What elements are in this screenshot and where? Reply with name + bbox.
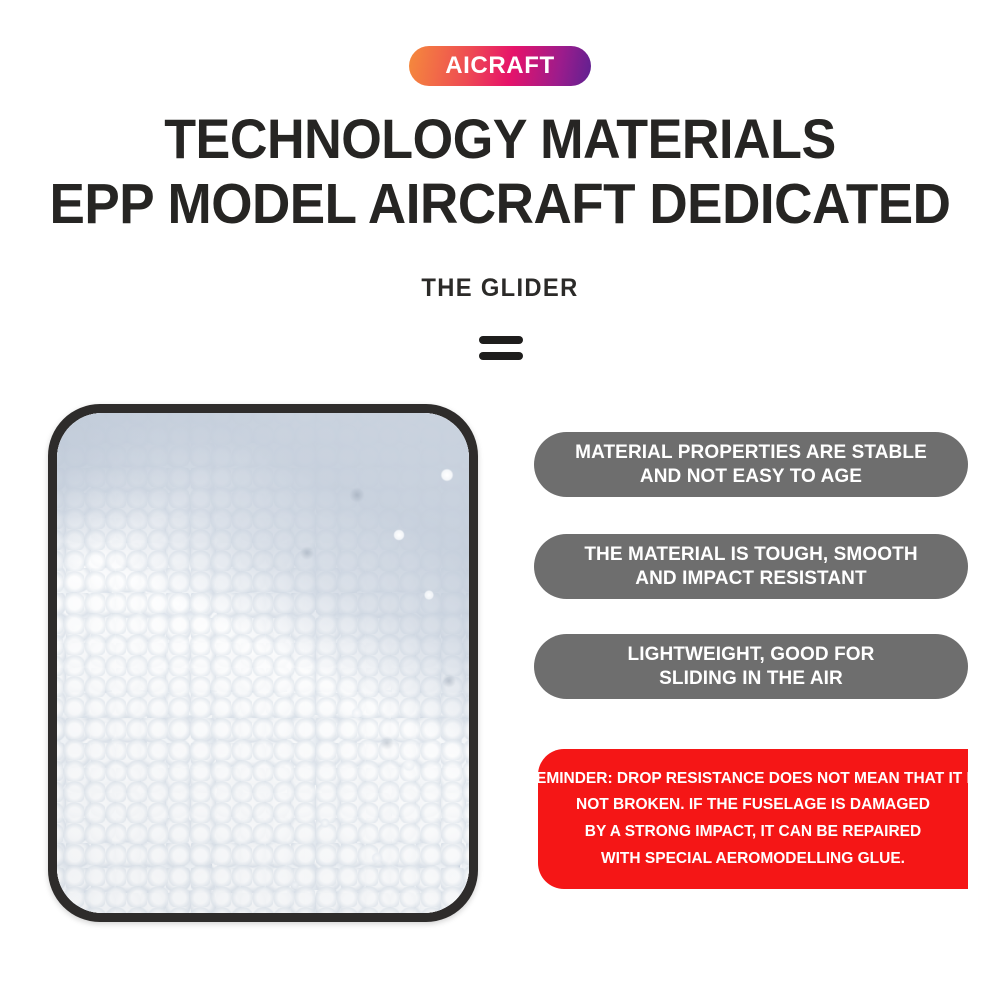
photo-sheen-overlay (57, 413, 469, 913)
feature-pill-1-line-1: MATERIAL PROPERTIES ARE STABLE (575, 441, 927, 464)
feature-pill-3: LIGHTWEIGHT, GOOD FOR SLIDING IN THE AIR (534, 634, 968, 699)
page-title-line-1: TECHNOLOGY MATERIALS (35, 110, 965, 167)
reminder-callout: REMINDER: DROP RESISTANCE DOES NOT MEAN … (538, 749, 968, 889)
reminder-line-4: WITH SPECIAL AEROMODELLING GLUE. (601, 846, 905, 873)
reminder-line-3: BY A STRONG IMPACT, IT CAN BE REPAIRED (585, 819, 921, 846)
feature-pill-1: MATERIAL PROPERTIES ARE STABLE AND NOT E… (534, 432, 968, 497)
brand-badge: AICRAFT (409, 46, 591, 86)
equals-icon-bar-bottom (479, 352, 523, 360)
equals-icon (479, 336, 523, 360)
feature-pill-1-line-2: AND NOT EASY TO AGE (575, 465, 927, 488)
feature-pill-3-line-1: LIGHTWEIGHT, GOOD FOR (628, 643, 875, 666)
page-subtitle: THE GLIDER (25, 274, 975, 303)
feature-pill-2-line-2: AND IMPACT RESISTANT (584, 567, 917, 590)
brand-badge-container: AICRAFT (0, 46, 1000, 86)
product-photo-frame (48, 404, 478, 922)
equals-icon-bar-top (479, 336, 523, 344)
reminder-line-1: REMINDER: DROP RESISTANCE DOES NOT MEAN … (525, 766, 981, 793)
product-infographic-page: AICRAFT TECHNOLOGY MATERIALS EPP MODEL A… (0, 0, 1000, 1000)
feature-pill-2: THE MATERIAL IS TOUGH, SMOOTH AND IMPACT… (534, 534, 968, 599)
reminder-line-2: NOT BROKEN. IF THE FUSELAGE IS DAMAGED (576, 792, 930, 819)
feature-pill-3-line-2: SLIDING IN THE AIR (628, 667, 875, 690)
feature-pill-2-line-1: THE MATERIAL IS TOUGH, SMOOTH (584, 543, 917, 566)
page-title-line-2: EPP MODEL AIRCRAFT DEDICATED (35, 175, 965, 233)
product-photo (57, 413, 469, 913)
